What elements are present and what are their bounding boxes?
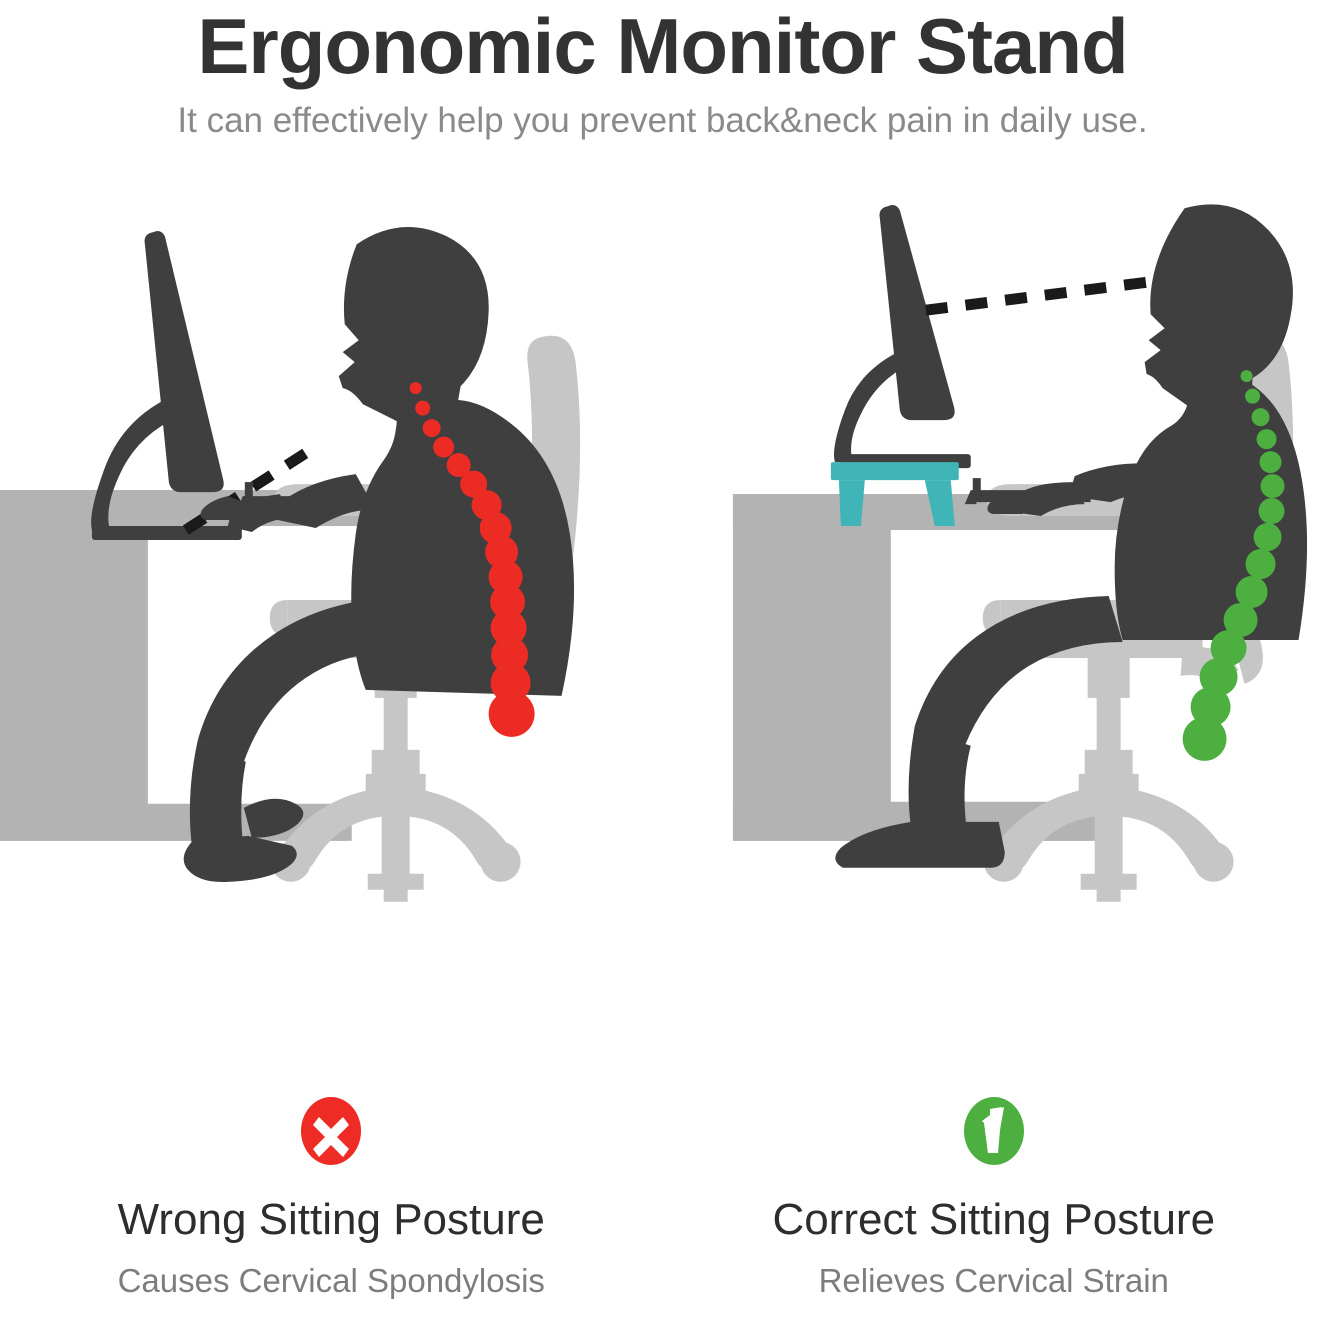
caption-title-correct: Correct Sitting Posture: [663, 1195, 1325, 1245]
caption-row: Wrong Sitting Posture Causes Cervical Sp…: [0, 1095, 1325, 1334]
page-subtitle: It can effectively help you prevent back…: [0, 100, 1325, 142]
check-mark-icon: [962, 1095, 1026, 1167]
caption-subtitle-wrong: Causes Cervical Spondylosis: [0, 1261, 663, 1301]
sightline-dashed: [925, 278, 1178, 310]
scene-wrong-posture: [0, 196, 663, 986]
infographic-page: Ergonomic Monitor Stand It can effective…: [0, 0, 1325, 1334]
monitor-icon: [833, 205, 970, 468]
header: Ergonomic Monitor Stand It can effective…: [0, 0, 1325, 142]
caption-correct: Correct Sitting Posture Relieves Cervica…: [663, 1095, 1325, 1334]
caption-subtitle-correct: Relieves Cervical Strain: [663, 1261, 1325, 1301]
illustration-row: [0, 196, 1325, 986]
caption-title-wrong: Wrong Sitting Posture: [0, 1195, 663, 1245]
scene-correct-posture: [663, 196, 1325, 986]
page-title: Ergonomic Monitor Stand: [0, 4, 1325, 88]
x-mark-icon: [299, 1095, 363, 1167]
caption-wrong: Wrong Sitting Posture Causes Cervical Sp…: [0, 1095, 663, 1334]
